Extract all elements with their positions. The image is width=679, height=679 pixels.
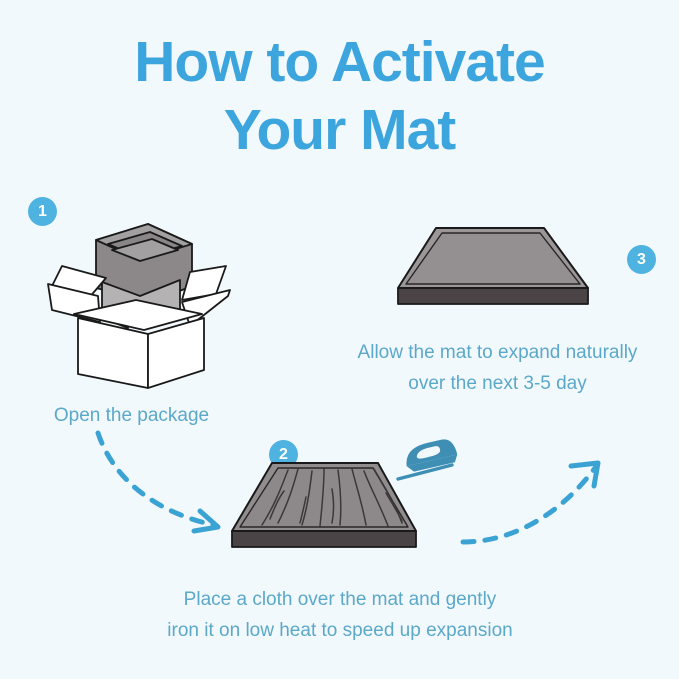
step-3-badge: 3: [627, 245, 656, 274]
title-line-1: How to Activate: [0, 28, 679, 96]
step-3-caption: Allow the mat to expand naturally over t…: [320, 337, 675, 399]
page-title: How to Activate Your Mat: [0, 28, 679, 164]
title-line-2: Your Mat: [0, 96, 679, 164]
step-2-caption-line-1: Place a cloth over the mat and gently: [110, 584, 570, 615]
step-2-caption: Place a cloth over the mat and gently ir…: [110, 584, 570, 646]
step-3-caption-line-1: Allow the mat to expand naturally: [320, 337, 675, 368]
infographic-canvas: How to Activate Your Mat 1: [0, 0, 679, 679]
step-3-caption-line-2: over the next 3-5 day: [320, 368, 675, 399]
step-2-caption-line-2: iron it on low heat to speed up expansio…: [110, 615, 570, 646]
dashed-arrow-step2-to-step3: [455, 450, 610, 565]
wrinkled-mat-illustration: [228, 455, 420, 566]
flat-mat-illustration: [392, 222, 592, 323]
open-box-with-mat-illustration: [40, 222, 240, 397]
dashed-arrow-step1-to-step2: [88, 425, 238, 550]
